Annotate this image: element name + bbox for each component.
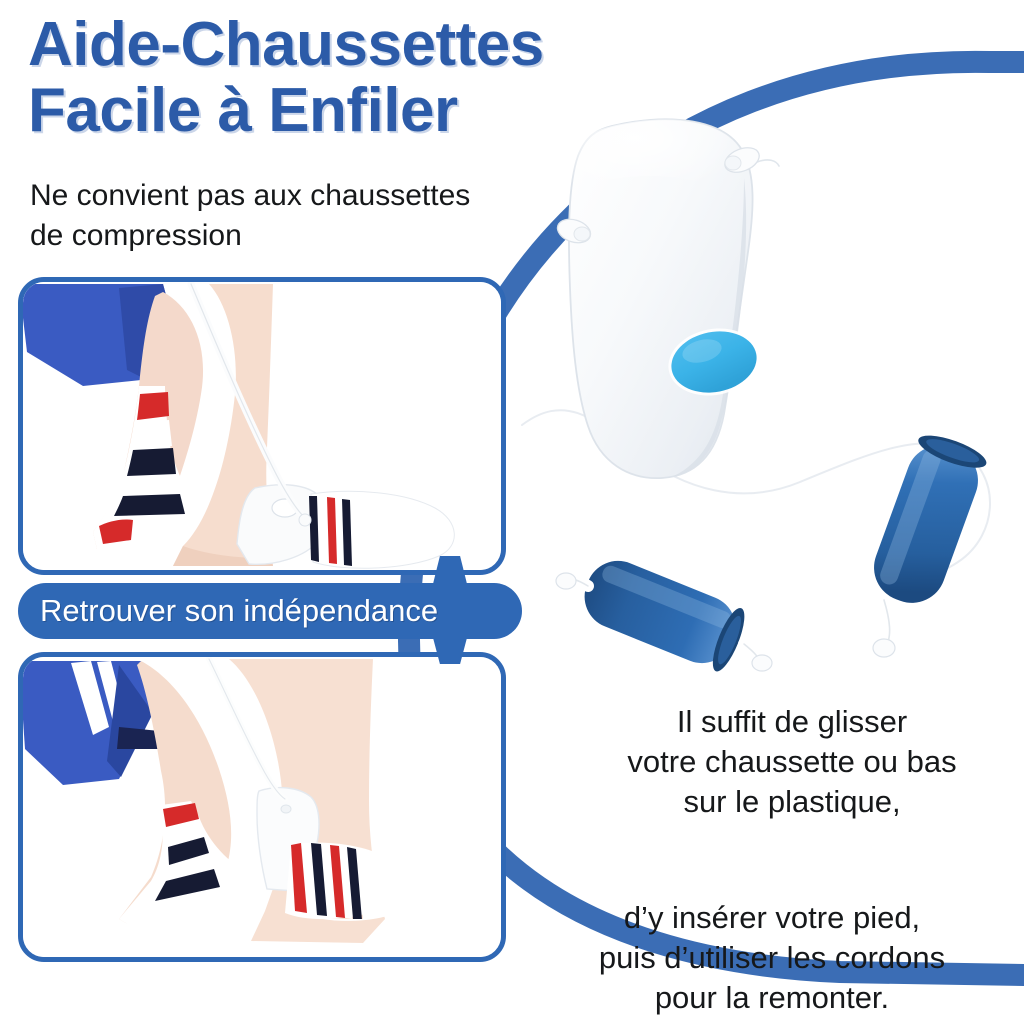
independence-banner: Retrouver son indépendance xyxy=(18,583,522,639)
subtitle: Ne convient pas aux chaussettes de compr… xyxy=(30,176,500,256)
instructions-upper-line-1: Il suffit de glisser xyxy=(560,702,1024,742)
instructions-lower-line-3: pour la remonter. xyxy=(520,978,1024,1018)
photo-top-image xyxy=(23,282,501,570)
photo-bottom-image xyxy=(23,657,501,957)
instructions-lower-line-2: puis d’utiliser les cordons xyxy=(520,938,1024,978)
page-title: Aide-Chaussettes Facile à Enfiler xyxy=(28,12,688,143)
subtitle-line-1: Ne convient pas aux xyxy=(30,179,302,212)
instructions-upper-line-2: votre chaussette ou bas xyxy=(560,742,1024,782)
instructions-upper-line-3: sur le plastique, xyxy=(560,782,1024,822)
instructions-lower: d’y insérer votre pied, puis d’utiliser … xyxy=(520,898,1024,1018)
instructions-lower-line-1: d’y insérer votre pied, xyxy=(520,898,1024,938)
photo-bottom xyxy=(18,652,506,962)
instructions-upper: Il suffit de glisser votre chaussette ou… xyxy=(560,702,1024,822)
headline-line-1: Aide-Chaussettes xyxy=(28,10,544,79)
banner-label: Retrouver son indépendance xyxy=(18,593,438,629)
headline-line-2: Facile à Enfiler xyxy=(28,78,688,144)
photo-top xyxy=(18,277,506,575)
poster-canvas: Aide-Chaussettes Facile à Enfiler Ne con… xyxy=(0,0,1024,1024)
